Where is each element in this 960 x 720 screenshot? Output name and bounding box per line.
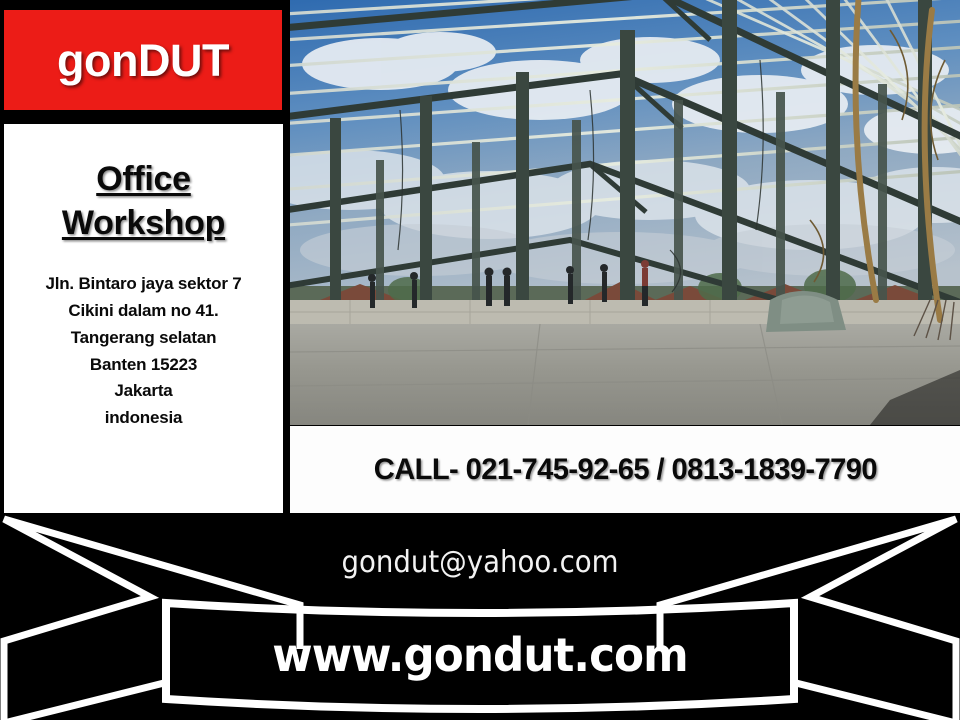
warehouse-photo-illustration [290,0,960,425]
address-line: indonesia [45,405,241,432]
address-lines: Jln. Bintaro jaya sektor 7 Cikini dalam … [45,271,241,432]
card-heading-office: Office [96,158,191,202]
address-line: Jakarta [45,378,241,405]
address-card: Office Workshop Jln. Bintaro jaya sektor… [4,124,283,514]
call-bar: CALL- 021-745-92-65 / 0813-1839-7790 [290,426,960,513]
brand-name: gonDUT [57,38,229,83]
poster-canvas: gonDUT Office Workshop Jln. Bintaro jaya… [0,0,960,720]
card-heading-workshop: Workshop [62,202,225,246]
address-line: Jln. Bintaro jaya sektor 7 [45,271,241,298]
address-line: Cikini dalam no 41. [45,298,241,325]
address-line: Tangerang selatan [45,325,241,352]
website-url[interactable]: www.gondut.com [24,628,936,682]
brand-logo-plate: gonDUT [4,10,282,110]
phone-numbers: CALL- 021-745-92-65 / 0813-1839-7790 [373,453,876,487]
warehouse-photo [290,0,960,425]
email-address[interactable]: gondut@yahoo.com [38,545,921,580]
address-line: Banten 15223 [45,352,241,379]
